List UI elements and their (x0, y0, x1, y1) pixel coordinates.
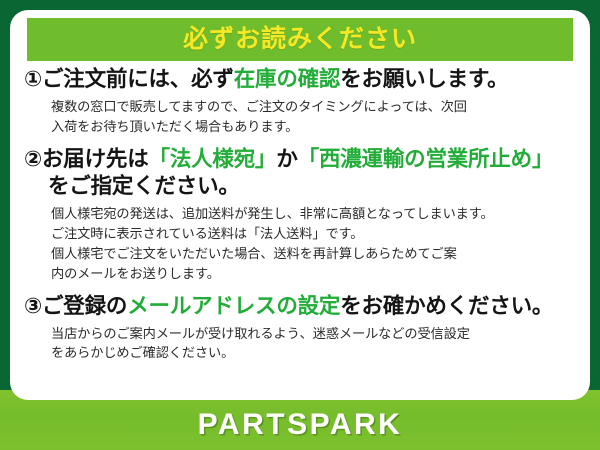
notice-item-1-heading-post: をお願いします。 (340, 67, 508, 91)
notice-item-2-subline-3: 個人様宅でご注文をいただいた場合、送料を再計算しあらためてご案 (51, 244, 582, 264)
notice-item-2-heading: ②お届け先は「法人様宛」か「西濃運輸の営業所止め」 (18, 146, 582, 174)
notice-item-1-subtext: 複数の窓口で販売してますので、ご注文のタイミングによっては、次回 入荷をお待ち頂… (18, 94, 582, 137)
notice-item-1-subline-2: 入荷をお待ち頂いただく場合もあります。 (51, 117, 582, 137)
notice-frame: 必ずお読みください ①ご注文前には、必ず在庫の確認をお願いします。 複数の窓口で… (0, 0, 600, 450)
notice-item-3-heading-pre: ③ご登録の (24, 294, 127, 318)
notice-item-3-heading-post: をお確かめください。 (340, 294, 553, 318)
notice-item-1-heading-highlight: 在庫の確認 (234, 67, 341, 91)
notice-item-2-subline-2: ご注文時に表示されている送料は「法人送料」です。 (51, 224, 582, 244)
notice-item-3-heading-highlight: メールアドレスの設定 (127, 294, 340, 318)
notice-item-3-subline-2: をあらかじめご確認ください。 (51, 343, 582, 363)
notice-item-2-heading-highlight: 「法人様宛」 (149, 147, 277, 171)
notice-item-1-subline-1: 複数の窓口で販売してますので、ご注文のタイミングによっては、次回 (51, 97, 582, 117)
notice-title-banner: 必ずお読みください (27, 18, 573, 61)
notice-item-1: ①ご注文前には、必ず在庫の確認をお願いします。 複数の窓口で販売してますので、ご… (10, 66, 590, 137)
notice-item-2-heading-highlight-2: 「西濃運輸の営業所止め」 (298, 147, 554, 171)
notice-item-1-heading-pre: ①ご注文前には、必ず (24, 67, 234, 91)
footer-brand-text: PARTSPARK (198, 410, 403, 440)
notice-item-2-heading-mid: か (276, 147, 297, 171)
notice-item-3: ③ご登録のメールアドレスの設定をお確かめください。 当店からのご案内メールが受け… (10, 293, 590, 364)
notice-item-3-subtext: 当店からのご案内メールが受け取れるよう、迷惑メールなどの受信設定 をあらかじめご… (18, 321, 582, 364)
notice-item-2-heading-pre: ②お届け先は (24, 147, 149, 171)
notice-item-2-heading-continued: をご指定ください。 (18, 173, 582, 201)
notice-item-list: ①ご注文前には、必ず在庫の確認をお願いします。 複数の窓口で販売してますので、ご… (10, 66, 590, 363)
notice-item-2-subline-1: 個人様宅宛の発送は、追加送料が発生し、非常に高額となってしまいます。 (51, 204, 582, 224)
notice-item-3-heading: ③ご登録のメールアドレスの設定をお確かめください。 (18, 293, 582, 321)
footer-brand-logo: PARTSPARK (0, 400, 600, 450)
notice-title-text: 必ずお読みください (183, 27, 417, 52)
notice-card: 必ずお読みください ①ご注文前には、必ず在庫の確認をお願いします。 複数の窓口で… (10, 10, 590, 400)
notice-item-2: ②お届け先は「法人様宛」か「西濃運輸の営業所止め」 をご指定ください。 個人様宅… (10, 146, 590, 284)
notice-item-2-subline-4: 内のメールをお送りします。 (51, 264, 582, 284)
notice-item-3-subline-1: 当店からのご案内メールが受け取れるよう、迷惑メールなどの受信設定 (51, 324, 582, 344)
notice-item-2-subtext: 個人様宅宛の発送は、追加送料が発生し、非常に高額となってしまいます。 ご注文時に… (18, 201, 582, 283)
notice-item-1-heading: ①ご注文前には、必ず在庫の確認をお願いします。 (18, 66, 582, 94)
